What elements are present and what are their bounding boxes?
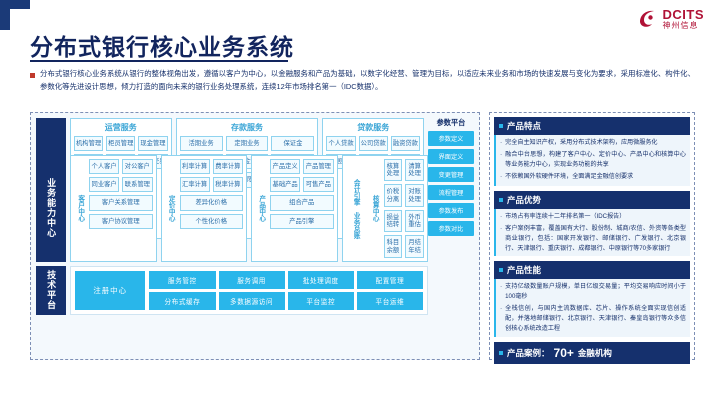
capability-label-accounting: 会计引擎 业务总账 <box>346 159 366 258</box>
intro-text: 分布式银行核心业务系统从银行的整体视角出发，遵循以客户为中心，以金融服务和产品为… <box>40 68 695 94</box>
parameter-platform-title: 参数平台 <box>428 118 474 128</box>
chip[interactable]: 现金管理 <box>138 136 167 151</box>
layer-row-tech-platform: 技术平台 注册中心 服务管控 服务调用 批处理调度 配置管理 分布式缓存 多数据… <box>36 266 474 315</box>
chip[interactable]: 客户关系管理 <box>89 195 153 210</box>
card-product-features: 产品特点 ·完全自主知识产权，采用分布式技术架构，应用微服务化 ·融合中台思想，… <box>494 117 690 186</box>
chip[interactable]: 同业客户 <box>89 177 119 192</box>
list-item-text: 全栈信创，与国内主流数据库、芯片、操作系统全面实现信创适配，并落地邮储银行、北京… <box>505 304 686 334</box>
tech-chip[interactable]: 批处理调度 <box>288 271 354 289</box>
list-item: ·融合中台思想，构建了客户中心、定价中心、产品中心和核算中心等业务能力中心，实现… <box>500 150 686 170</box>
title-underline <box>30 60 288 62</box>
list-item-text: 客户案例丰富，覆盖国有大行、股份制、城商/农信、外资等各类型商业银行，包括：国家… <box>505 224 686 254</box>
chip[interactable]: 月结年结 <box>405 235 424 257</box>
capability-center-customer[interactable]: 客户中心 个人客户 对公客户 同业客户 联系管理 客户关系管理 客户协议管理 <box>70 155 157 262</box>
capability-center-product[interactable]: 产品中心 产品定义 产品管理 基础产品 可售产品 组合产品 产品引擎 <box>251 155 338 262</box>
chip[interactable]: 基础产品 <box>270 177 300 192</box>
card-product-advantages: 产品优势 ·市场占有率连续十二年排名第一（IDC报告） ·客户案例丰富，覆盖国有… <box>494 191 690 257</box>
layer-label-capability-centers: 业务能力中心 <box>36 155 66 262</box>
tech-chip[interactable]: 平台运维 <box>357 292 423 310</box>
tech-registry-center[interactable]: 注册中心 <box>75 271 145 310</box>
chip[interactable]: 产品引擎 <box>270 214 334 229</box>
list-item: ·不依赖国外软硬件环境，全面满足金融信创要求 <box>500 172 686 182</box>
logo-chinese-name: 神州信息 <box>663 22 705 30</box>
capability-label: 核算中心 <box>369 159 381 258</box>
list-item: ·全栈信创，与国内主流数据库、芯片、操作系统全面实现信创适配，并落地邮储银行、北… <box>500 304 686 334</box>
chip[interactable]: 活期业务 <box>180 136 223 151</box>
chip[interactable]: 保证金 <box>271 136 314 151</box>
card-body: ·市场占有率连续十二年排名第一（IDC报告） ·客户案例丰富，覆盖国有大行、股份… <box>494 209 690 257</box>
dcits-swirl-icon <box>637 8 659 30</box>
list-item: ·市场占有率连续十二年排名第一（IDC报告） <box>500 212 686 222</box>
bullet-square-icon <box>30 73 35 78</box>
capability-label: 定价中心 <box>165 159 177 258</box>
card-product-performance: 产品性能 ·支持亿级数量账户规模，单日亿级交易量；平均交易响应时间小于100毫秒… <box>494 261 690 336</box>
dot-icon: · <box>500 150 502 170</box>
chip[interactable]: 对账处理 <box>405 184 424 206</box>
case-unit: 金融机构 <box>578 347 612 359</box>
capability-center-pricing[interactable]: 定价中心 利率计算 费率计算 汇率计算 税率计算 差异化价格 个性化价格 <box>161 155 248 262</box>
tech-chip[interactable]: 服务管控 <box>149 271 215 289</box>
chip[interactable]: 融资贷款 <box>391 136 420 151</box>
card-body: ·支持亿级数量账户规模，单日亿级交易量；平均交易响应时间小于100毫秒 ·全栈信… <box>494 279 690 336</box>
chip[interactable]: 柜员管理 <box>106 136 135 151</box>
group-title: 贷款服务 <box>326 122 420 133</box>
card-header: 产品特点 <box>494 117 690 135</box>
card-title: 产品性能 <box>507 264 541 276</box>
list-item-text: 融合中台思想，构建了客户中心、定价中心、产品中心和核算中心等业务能力中心，实现业… <box>505 150 686 170</box>
capability-center-accounting[interactable]: 会计引擎 业务总账 核算中心 核算处理 清算处理 价税分离 对账处理 损益结转 … <box>342 155 429 262</box>
parameter-platform: 参数平台 参数定义 界面定义 变更管理 流程管理 参数发布 参数对比 <box>428 118 474 239</box>
tech-chip[interactable]: 服务调用 <box>219 271 285 289</box>
chip[interactable]: 机构管理 <box>74 136 103 151</box>
chip[interactable]: 联系管理 <box>122 177 152 192</box>
param-button[interactable]: 变更管理 <box>428 167 474 182</box>
case-label: 产品案例： <box>507 347 550 359</box>
group-title: 存款服务 <box>180 122 315 133</box>
tech-chip[interactable]: 分布式缓存 <box>149 292 215 310</box>
layer-row-capability-centers: 业务能力中心 客户中心 个人客户 对公客户 同业客户 联系管理 客户关系管理 客… <box>36 155 474 262</box>
chip[interactable]: 个人贷款 <box>326 136 355 151</box>
list-item-text: 不依赖国外软硬件环境，全面满足金融信创要求 <box>505 172 633 182</box>
accounting-sub-label: 会计引擎 业务总账 <box>352 179 359 239</box>
chip[interactable]: 公司贷款 <box>359 136 388 151</box>
tech-chip-grid: 服务管控 服务调用 批处理调度 配置管理 分布式缓存 多数据源访问 平台监控 平… <box>149 271 423 310</box>
param-button[interactable]: 参数发布 <box>428 203 474 218</box>
card-body: ·完全自主知识产权，采用分布式技术架构，应用微服务化 ·融合中台思想，构建了客户… <box>494 135 690 186</box>
chip[interactable]: 清算处理 <box>405 159 424 181</box>
chip[interactable]: 汇率计算 <box>180 177 210 192</box>
list-item: ·支持亿级数量账户规模，单日亿级交易量；平均交易响应时间小于100毫秒 <box>500 282 686 302</box>
capability-label: 客户中心 <box>74 159 86 258</box>
list-item: ·客户案例丰富，覆盖国有大行、股份制、城商/农信、外资等各类型商业银行，包括：国… <box>500 224 686 254</box>
chip[interactable]: 客户协议管理 <box>89 214 153 229</box>
dot-icon: · <box>500 212 502 222</box>
param-button[interactable]: 参数对比 <box>428 221 474 236</box>
list-item: ·完全自主知识产权，采用分布式技术架构，应用微服务化 <box>500 138 686 148</box>
chip[interactable]: 个人客户 <box>89 159 119 174</box>
card-header: 产品优势 <box>494 191 690 209</box>
page-title: 分布式银行核心业务系统 <box>30 28 294 62</box>
tech-platform-box: 注册中心 服务管控 服务调用 批处理调度 配置管理 分布式缓存 多数据源访问 平… <box>70 266 428 315</box>
dot-icon: · <box>500 172 502 182</box>
chip[interactable]: 组合产品 <box>270 195 334 210</box>
list-item-text: 市场占有率连续十二年排名第一（IDC报告） <box>505 212 625 222</box>
tech-chip[interactable]: 平台监控 <box>288 292 354 310</box>
chip[interactable]: 价税分离 <box>384 184 403 206</box>
product-case-banner: 产品案例： 70+ 金融机构 <box>494 342 690 364</box>
card-title: 产品优势 <box>507 194 541 206</box>
chip[interactable]: 对公客户 <box>122 159 152 174</box>
tech-chip[interactable]: 配置管理 <box>357 271 423 289</box>
architecture-diagram: 产品服务 运营服务 机构管理 柜员管理 现金管理 凭证管理 风险管理 辅助交易 … <box>30 112 480 360</box>
chip[interactable]: 定期业务 <box>226 136 269 151</box>
chip[interactable]: 利率计算 <box>180 159 210 174</box>
chip[interactable]: 费率计算 <box>213 159 243 174</box>
chip[interactable]: 可售产品 <box>303 177 333 192</box>
list-item-text: 支持亿级数量账户规模，单日亿级交易量；平均交易响应时间小于100毫秒 <box>505 282 686 302</box>
capability-label: 产品中心 <box>255 159 267 258</box>
info-panel: 产品特点 ·完全自主知识产权，采用分布式技术架构，应用微服务化 ·融合中台思想，… <box>489 112 695 360</box>
card-title: 产品特点 <box>507 120 541 132</box>
chip[interactable]: 外币重估 <box>405 210 424 232</box>
logo-wordmark: DCITS <box>663 8 705 21</box>
intro-paragraph: 分布式银行核心业务系统从银行的整体视角出发，遵循以客户为中心，以金融服务和产品为… <box>30 68 695 94</box>
square-bullet-icon <box>499 268 503 272</box>
param-button[interactable]: 界面定义 <box>428 149 474 164</box>
square-bullet-icon <box>499 124 503 128</box>
group-title: 运营服务 <box>74 122 168 133</box>
chip[interactable]: 产品管理 <box>303 159 333 174</box>
dot-icon: · <box>500 282 502 302</box>
square-bullet-icon <box>499 198 503 202</box>
chip[interactable]: 个性化价格 <box>180 214 244 229</box>
list-item-text: 完全自主知识产权，采用分布式技术架构，应用微服务化 <box>505 138 657 148</box>
chip[interactable]: 核算处理 <box>384 159 403 181</box>
square-bullet-icon <box>499 351 503 355</box>
param-button[interactable]: 流程管理 <box>428 185 474 200</box>
chip[interactable]: 差异化价格 <box>180 195 244 210</box>
chip[interactable]: 损益结转 <box>384 210 403 232</box>
dot-icon: · <box>500 224 502 254</box>
card-header: 产品性能 <box>494 261 690 279</box>
chip[interactable]: 科目余额 <box>384 235 403 257</box>
corner-decoration-horizontal <box>0 0 30 9</box>
param-button[interactable]: 参数定义 <box>428 131 474 146</box>
dot-icon: · <box>500 138 502 148</box>
brand-logo: DCITS 神州信息 <box>637 8 705 30</box>
dot-icon: · <box>500 304 502 334</box>
chip[interactable]: 产品定义 <box>270 159 300 174</box>
case-number: 70+ <box>554 346 574 360</box>
layer-label-tech-platform: 技术平台 <box>36 266 66 315</box>
chip[interactable]: 税率计算 <box>213 177 243 192</box>
tech-chip[interactable]: 多数据源访问 <box>219 292 285 310</box>
